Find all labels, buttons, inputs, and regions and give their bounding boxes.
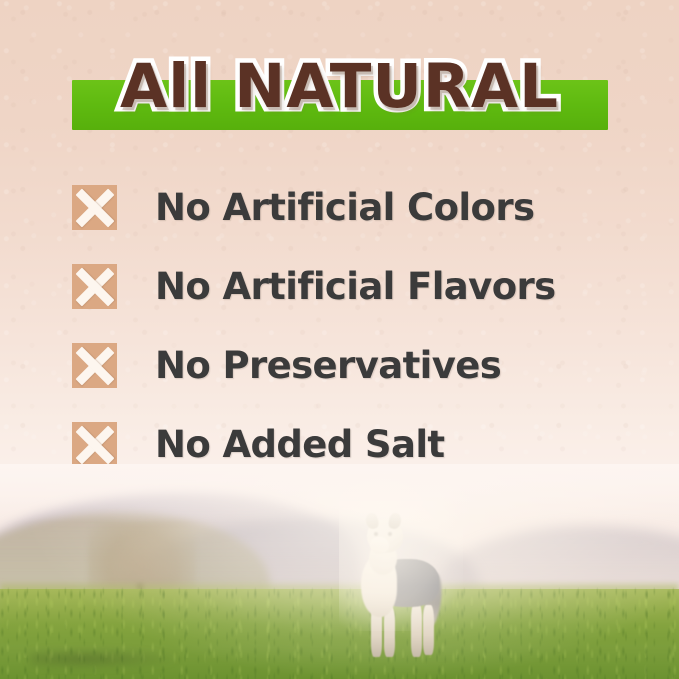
dog-eye-left: [374, 532, 378, 536]
list-item: No Preservatives: [0, 326, 679, 405]
dog-eye-right: [388, 532, 392, 536]
dog-back-leg-left: [411, 603, 422, 657]
x-mark-icon: [72, 264, 117, 309]
list-item: No Artificial Colors: [0, 168, 679, 247]
dog-muzzle: [370, 537, 389, 554]
photo-dog-shadow: [30, 649, 180, 669]
photo-dog: [355, 511, 447, 661]
benefit-list: No Artificial Colors No Artificial Flavo…: [0, 168, 679, 484]
lifestyle-photo: [0, 464, 679, 679]
benefit-label: No Added Salt: [155, 426, 445, 463]
benefit-label: No Artificial Colors: [155, 189, 534, 226]
benefit-label: No Preservatives: [155, 347, 501, 384]
benefit-label: No Artificial Flavors: [155, 268, 556, 305]
header-banner: All NATURAL: [0, 44, 679, 130]
x-mark-icon: [72, 185, 117, 230]
dog-back-leg-right: [423, 605, 434, 655]
x-mark-icon: [72, 343, 117, 388]
page-title: All NATURAL: [0, 44, 679, 130]
x-mark-icon: [72, 422, 117, 467]
list-item: No Artificial Flavors: [0, 247, 679, 326]
all-natural-product-poster: All NATURAL No Artificial Colors No Arti…: [0, 0, 679, 679]
